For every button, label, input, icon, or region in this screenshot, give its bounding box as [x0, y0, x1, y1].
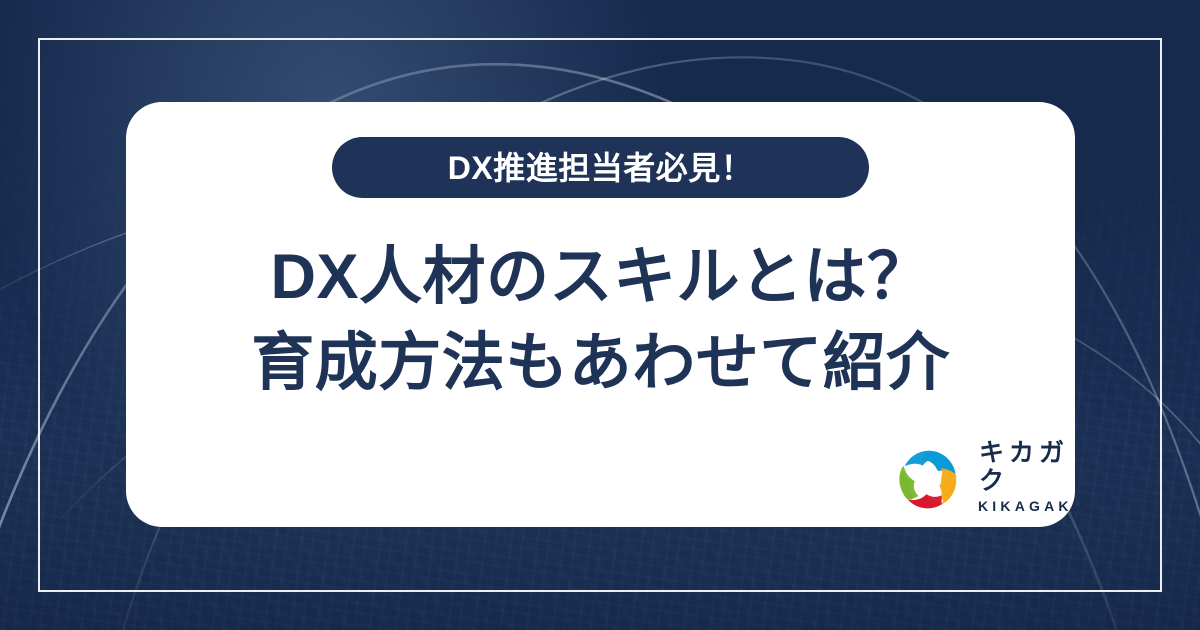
- title-line-1: DX人材のスキルとは？: [126, 234, 1075, 320]
- page-title: DX人材のスキルとは？ 育成方法もあわせて紹介: [126, 234, 1075, 406]
- status-badge: DX推進担当者必見！: [332, 137, 869, 198]
- kikagaku-swirl-icon: [898, 447, 960, 509]
- content-card: DX推進担当者必見！ DX人材のスキルとは？ 育成方法もあわせて紹介: [126, 102, 1075, 527]
- badge-label: DX推進担当者必見！: [448, 152, 753, 184]
- logo-wordmark: キカガク KIKAGAKU: [974, 440, 1087, 515]
- ogp-banner: DX推進担当者必見！ DX人材のスキルとは？ 育成方法もあわせて紹介: [0, 0, 1200, 630]
- title-line-2: 育成方法もあわせて紹介: [126, 320, 1075, 406]
- kikagaku-logo: キカガク KIKAGAKU: [898, 440, 1087, 515]
- logo-name-en: KIKAGAKU: [974, 497, 1087, 515]
- logo-name-jp: キカガク: [974, 440, 1087, 495]
